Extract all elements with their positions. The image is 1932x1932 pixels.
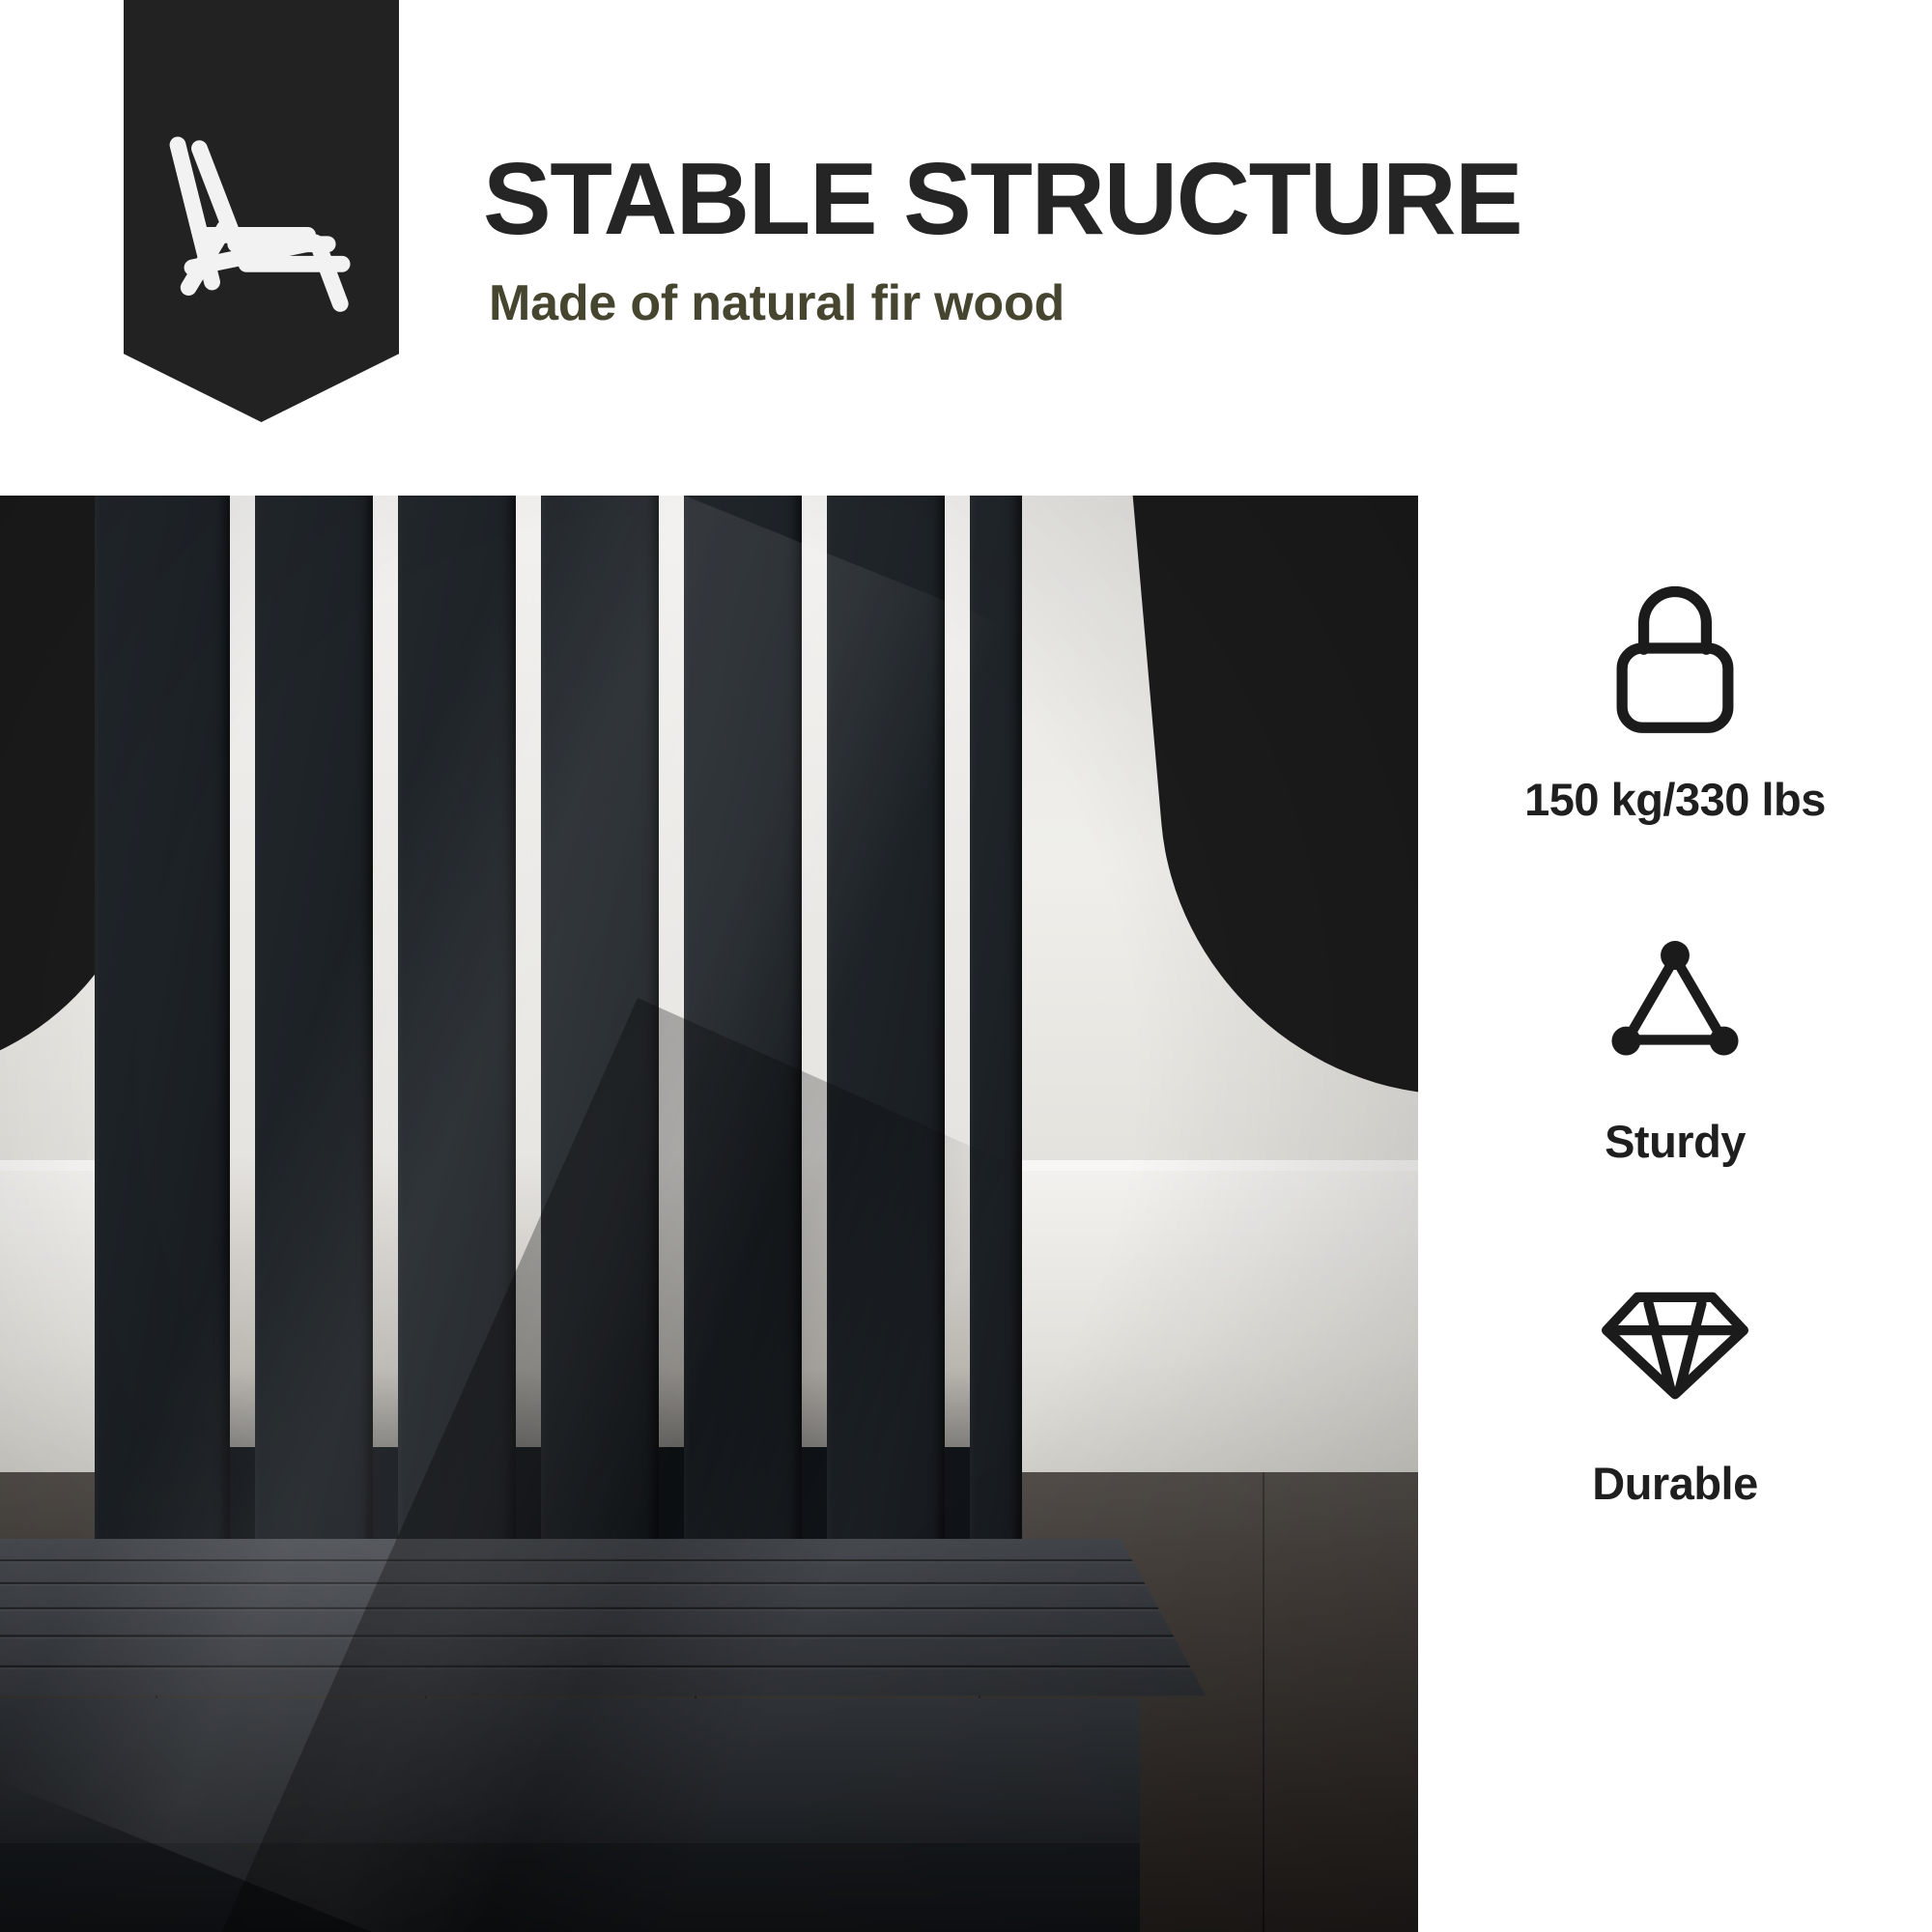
backrest-slat <box>827 496 945 1563</box>
feature-list: 150 kg/330 lbs Sturdy Durable <box>1418 496 1932 1932</box>
product-photo <box>0 496 1418 1932</box>
header-banner: STABLE STRUCTURE Made of natural fir woo… <box>0 0 1932 496</box>
backrest-slat <box>255 496 373 1563</box>
feature-label: Durable <box>1418 1457 1932 1510</box>
feature-badge <box>124 0 399 422</box>
backrest-slat <box>541 496 659 1563</box>
backrest-slat <box>95 496 230 1563</box>
diamond-gem-icon <box>1418 1257 1932 1426</box>
feature-durable: Durable <box>1418 1257 1932 1510</box>
page-title: STABLE STRUCTURE <box>483 145 1835 253</box>
backrest-slat <box>970 496 1022 1563</box>
backrest-slat <box>684 496 802 1563</box>
padlock-icon <box>1418 573 1932 742</box>
backrest-slat <box>398 496 516 1563</box>
page-subtitle: Made of natural fir wood <box>489 274 1835 332</box>
bench-base <box>0 1843 1140 1932</box>
bench-seat <box>0 1539 1206 1696</box>
feature-label: Sturdy <box>1418 1115 1932 1168</box>
header-text-block: STABLE STRUCTURE Made of natural fir woo… <box>483 145 1835 332</box>
lounge-chair-icon <box>151 116 371 324</box>
bench-backrest <box>95 496 1022 1563</box>
feature-sturdy: Sturdy <box>1418 915 1932 1168</box>
triangle-nodes-icon <box>1418 915 1932 1084</box>
feature-weight-capacity: 150 kg/330 lbs <box>1418 573 1932 826</box>
feature-label: 150 kg/330 lbs <box>1418 773 1932 826</box>
